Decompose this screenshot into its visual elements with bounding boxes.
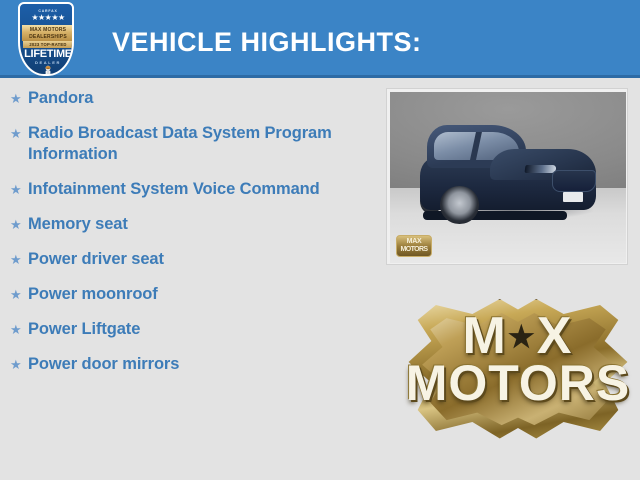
badge-dealer-name-line2: DEALERSHIPS: [22, 34, 74, 40]
badge-lifetime-label: LIFETIME: [20, 49, 74, 60]
list-item: ★ Memory seat: [8, 214, 376, 235]
headlight: [524, 165, 556, 173]
list-item: ★ Power moonroof: [8, 284, 376, 305]
list-item: ★ Pandora: [8, 88, 376, 109]
badge-shield-shape: CARFAX ★★★★★ MAX MOTORS DEALERSHIPS 2023…: [18, 2, 74, 76]
star-bullet-icon: ★: [8, 284, 28, 305]
logo-bottom-word: MOTORS: [404, 358, 632, 408]
list-item: ★ Power driver seat: [8, 249, 376, 270]
page-title: VEHICLE HIGHLIGHTS:: [112, 27, 422, 58]
highlight-label: Power door mirrors: [28, 354, 179, 375]
star-bullet-icon: ★: [8, 354, 28, 375]
suv-illustration: [416, 123, 600, 222]
highlight-label: Memory seat: [28, 214, 128, 235]
watermark-line-1: MAX: [397, 238, 431, 245]
license-plate: [563, 192, 583, 202]
carfax-lifetime-dealer-badge: CARFAX ★★★★★ MAX MOTORS DEALERSHIPS 2023…: [18, 2, 74, 78]
highlight-label: Infotainment System Voice Command: [28, 179, 320, 200]
list-item: ★ Infotainment System Voice Command: [8, 179, 376, 200]
badge-gold-band: MAX MOTORS DEALERSHIPS: [22, 25, 74, 41]
list-item: ★ Radio Broadcast Data System Program In…: [8, 123, 376, 165]
highlight-label: Power moonroof: [28, 284, 158, 305]
highlight-label: Power Liftgate: [28, 319, 140, 340]
vehicle-photo[interactable]: MAX MOTORS: [386, 88, 628, 265]
vehicle-photo-image: MAX MOTORS: [390, 92, 626, 263]
front-wheel: [440, 186, 479, 224]
list-item: ★ Power Liftgate: [8, 319, 376, 340]
page-header: VEHICLE HIGHLIGHTS:: [0, 0, 640, 78]
mascot-icon: [42, 65, 54, 76]
star-bullet-icon: ★: [8, 123, 28, 144]
watermark-line-2: MOTORS: [397, 246, 431, 253]
star-bullet-icon: ★: [8, 179, 28, 200]
logo-star-icon: ★: [508, 321, 537, 354]
star-bullet-icon: ★: [8, 319, 28, 340]
five-stars-icon: ★★★★★: [20, 14, 74, 22]
badge-top-rated-label: 2023 TOP-RATED: [23, 41, 73, 48]
star-bullet-icon: ★: [8, 88, 28, 109]
highlight-label: Radio Broadcast Data System Program Info…: [28, 123, 376, 165]
photo-watermark-logo: MAX MOTORS: [396, 235, 432, 257]
star-bullet-icon: ★: [8, 249, 28, 270]
highlight-label: Power driver seat: [28, 249, 164, 270]
max-motors-logo[interactable]: M★X MOTORS: [404, 296, 632, 446]
badge-dealer-name-line1: MAX MOTORS: [22, 27, 74, 33]
highlight-label: Pandora: [28, 88, 93, 109]
front-grille: [552, 170, 596, 192]
star-bullet-icon: ★: [8, 214, 28, 235]
list-item: ★ Power door mirrors: [8, 354, 376, 375]
vehicle-highlights-list: ★ Pandora ★ Radio Broadcast Data System …: [8, 88, 376, 389]
